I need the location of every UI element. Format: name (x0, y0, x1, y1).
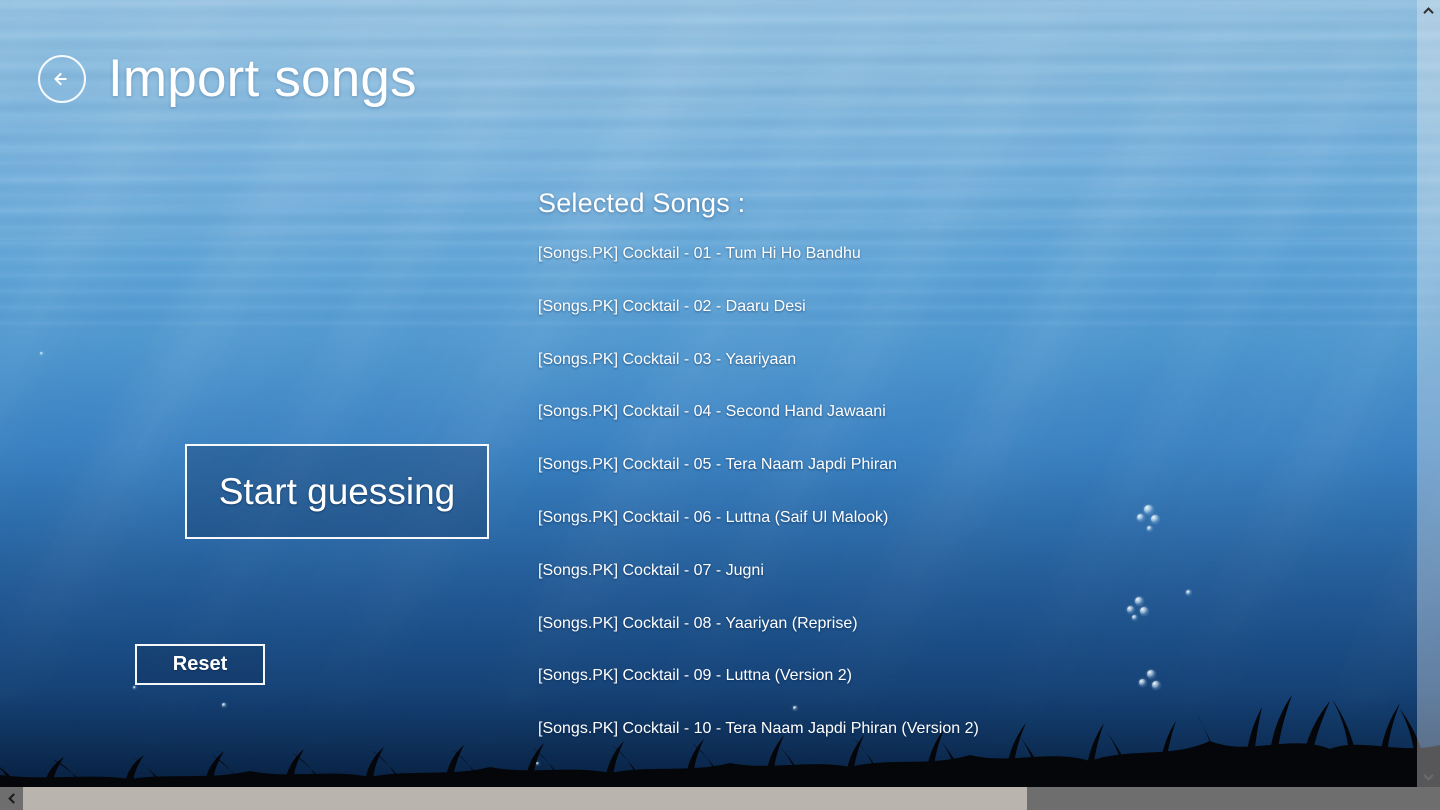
start-guessing-button[interactable]: Start guessing (185, 444, 489, 539)
scrollbar-corner (1417, 787, 1440, 810)
selected-songs-heading: Selected Songs : (538, 188, 1318, 219)
list-item[interactable]: [Songs.PK] Cocktail - 07 - Jugni (538, 561, 1318, 614)
song-list: [Songs.PK] Cocktail - 01 - Tum Hi Ho Ban… (538, 244, 1318, 772)
back-arrow-icon (49, 66, 75, 92)
vertical-scroll-track[interactable] (1417, 21, 1440, 766)
horizontal-scroll-thumb[interactable] (23, 787, 1027, 810)
vertical-scrollbar[interactable] (1417, 0, 1440, 787)
list-item[interactable]: [Songs.PK] Cocktail - 06 - Luttna (Saif … (538, 508, 1318, 561)
horizontal-scroll-track[interactable] (23, 787, 1417, 810)
bubble (40, 352, 43, 355)
horizontal-scrollbar[interactable] (0, 787, 1440, 810)
list-item[interactable]: [Songs.PK] Cocktail - 02 - Daaru Desi (538, 297, 1318, 350)
scroll-up-button[interactable] (1417, 0, 1440, 21)
selected-songs-panel: Selected Songs : [Songs.PK] Cocktail - 0… (538, 188, 1318, 772)
bubble (133, 686, 136, 689)
chevron-down-icon (1423, 773, 1434, 781)
list-item[interactable]: [Songs.PK] Cocktail - 08 - Yaariyan (Rep… (538, 614, 1318, 667)
list-item[interactable]: [Songs.PK] Cocktail - 09 - Luttna (Versi… (538, 666, 1318, 719)
list-item[interactable]: [Songs.PK] Cocktail - 01 - Tum Hi Ho Ban… (538, 244, 1318, 297)
bubble (222, 703, 226, 707)
back-button[interactable] (38, 55, 86, 103)
page-title: Import songs (108, 52, 417, 105)
page-header: Import songs (38, 52, 417, 105)
scroll-down-button[interactable] (1417, 766, 1440, 787)
import-songs-app: Import songs Start guessing Reset Select… (0, 0, 1440, 810)
chevron-up-icon (1423, 7, 1434, 15)
chevron-left-icon (8, 793, 16, 804)
scroll-left-button[interactable] (0, 787, 23, 810)
list-item[interactable]: [Songs.PK] Cocktail - 04 - Second Hand J… (538, 402, 1318, 455)
list-item[interactable]: [Songs.PK] Cocktail - 03 - Yaariyaan (538, 350, 1318, 403)
list-item[interactable]: [Songs.PK] Cocktail - 10 - Tera Naam Jap… (538, 719, 1318, 772)
list-item[interactable]: [Songs.PK] Cocktail - 05 - Tera Naam Jap… (538, 455, 1318, 508)
reset-button[interactable]: Reset (135, 644, 265, 685)
